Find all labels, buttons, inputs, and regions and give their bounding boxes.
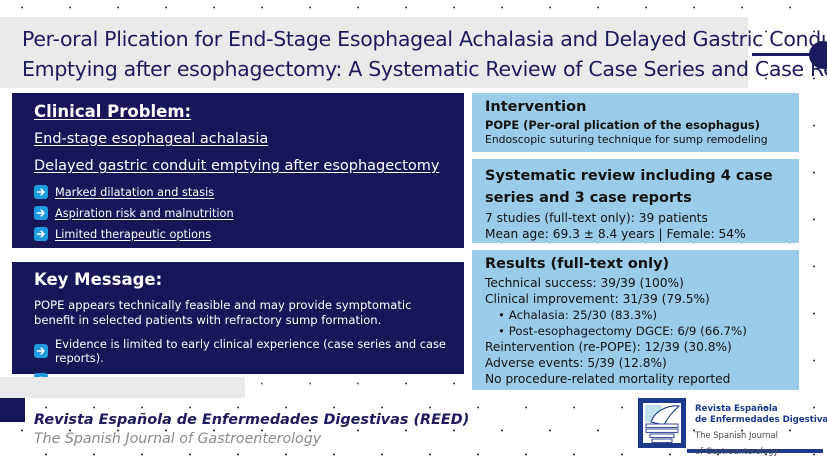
logo-text-block: Revista Española de Enfermedades Digesti… xyxy=(695,404,827,456)
results-line-clinical-improvement: Clinical improvement: 31/39 (79.5%) xyxy=(485,291,791,307)
review-heading-line-1: Systematic review including 4 case xyxy=(485,166,791,186)
clinical-problem-subtitle-1: End-stage esophageal achalasia xyxy=(34,131,450,147)
footer-gray-band xyxy=(0,377,245,398)
results-line-achalasia: • Achalasia: 25/30 (83.3%) xyxy=(485,307,791,323)
key-message-body: POPE appears technically feasible and ma… xyxy=(34,298,434,328)
results-line-technical-success: Technical success: 39/39 (100%) xyxy=(485,275,791,291)
arrow-right-icon xyxy=(34,185,48,199)
footer-journal-subtitle: The Spanish Journal of Gastroenterology xyxy=(34,431,321,447)
clinical-problem-bullet-2: Aspiration risk and malnutrition xyxy=(55,207,234,220)
key-message-heading: Key Message: xyxy=(34,270,450,289)
intervention-bold-line: POPE (Per-oral plication of the esophagu… xyxy=(485,118,791,132)
clinical-problem-bullet-1: Marked dilatation and stasis xyxy=(55,186,214,199)
results-line-mortality: No procedure-related mortality reported xyxy=(485,371,791,387)
results-line-dgce: • Post-esophagectomy DGCE: 6/9 (66.7%) xyxy=(485,323,791,339)
logo-line-2: de Enfermedades Digestivas xyxy=(695,415,827,426)
arrow-right-icon xyxy=(34,206,48,220)
page-title-line-1: Per-oral Plication for End-Stage Esophag… xyxy=(22,24,728,54)
systematic-review-panel: Systematic review including 4 case serie… xyxy=(472,159,799,243)
footer-navy-swatch xyxy=(0,398,25,422)
page-title-line-2: Emptying after esophagectomy: A Systemat… xyxy=(22,54,728,84)
journal-logo: Revista Española de Enfermedades Digesti… xyxy=(637,397,823,459)
logo-line-3: The Spanish Journal xyxy=(695,430,827,441)
review-studies-line: 7 studies (full-text only): 39 patients xyxy=(485,210,791,226)
arrow-right-icon xyxy=(34,344,48,358)
poster-canvas: Per-oral Plication for End-Stage Esophag… xyxy=(0,0,827,465)
key-message-panel: Key Message: POPE appears technically fe… xyxy=(12,262,464,374)
poster-title-band: Per-oral Plication for End-Stage Esophag… xyxy=(0,17,748,88)
logo-line-4: of Gastroenterology xyxy=(695,446,827,457)
review-heading-line-2: series and 3 case reports xyxy=(485,188,791,208)
results-panel: Results (full-text only) Technical succe… xyxy=(472,250,799,390)
intervention-heading: Intervention xyxy=(485,99,791,115)
clinical-problem-heading: Clinical Problem: xyxy=(34,102,450,121)
logo-line-1: Revista Española xyxy=(695,404,827,415)
intervention-detail: Endoscopic suturing technique for sump r… xyxy=(485,133,791,146)
clinical-problem-subtitle-2: Delayed gastric conduit emptying after e… xyxy=(34,158,450,174)
key-message-bullet-1: Evidence is limited to early clinical ex… xyxy=(55,337,450,365)
list-item: Aspiration risk and malnutrition xyxy=(34,206,450,220)
intervention-panel: Intervention POPE (Per-oral plication of… xyxy=(472,93,799,152)
review-demographics-line: Mean age: 69.3 ± 8.4 years | Female: 54% xyxy=(485,226,791,242)
reed-logo-icon xyxy=(637,397,687,455)
results-line-reintervention: Reintervention (re-POPE): 12/39 (30.8%) xyxy=(485,339,791,355)
results-heading: Results (full-text only) xyxy=(485,256,791,272)
arrow-right-icon xyxy=(34,227,48,241)
clinical-problem-bullet-3: Limited therapeutic options xyxy=(55,228,211,241)
list-item: Marked dilatation and stasis xyxy=(34,185,450,199)
list-item: Evidence is limited to early clinical ex… xyxy=(34,337,450,365)
footer-journal-name: Revista Española de Enfermedades Digesti… xyxy=(34,412,469,428)
clinical-problem-panel: Clinical Problem: End-stage esophageal a… xyxy=(12,93,464,248)
list-item: Limited therapeutic options xyxy=(34,227,450,241)
results-line-adverse-events: Adverse events: 5/39 (12.8%) xyxy=(485,355,791,371)
